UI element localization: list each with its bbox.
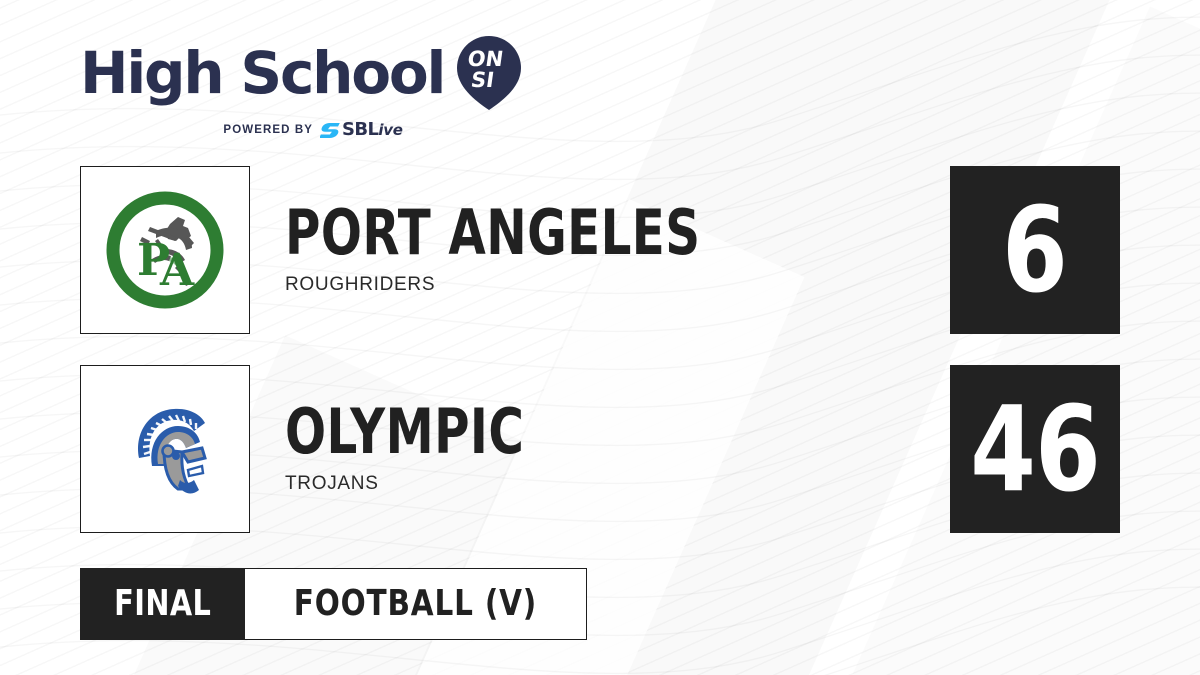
score-box-olympic: 46 (950, 365, 1120, 533)
port-angeles-roughriders-logo-icon: P A (106, 191, 224, 309)
brand-header: High School ON SI POWERED BY SBLive (80, 34, 510, 139)
team-logo-card-port-angeles: P A (80, 166, 250, 334)
team-mascot: TROJANS (285, 473, 592, 495)
team-logo-card-olympic (80, 365, 250, 533)
brand-logo-row: High School ON SI (80, 34, 510, 112)
team-row-home: P A PORT ANGELES ROUGHRIDERS 6 (80, 166, 1120, 334)
brand-wordmark: High School (80, 44, 444, 102)
team-info-olympic: OLYMPIC TROJANS (285, 365, 592, 533)
status-badge: FINAL (80, 568, 245, 640)
powered-by-row: POWERED BY SBLive (80, 121, 510, 139)
sblive-wordmark: SBLive (342, 121, 403, 139)
sport-label-panel: FOOTBALL (V) (245, 568, 587, 640)
pin-line2-text: SI (470, 67, 496, 92)
team-row-away: OLYMPIC TROJANS 46 (80, 365, 1120, 533)
team-name: OLYMPIC (285, 403, 524, 460)
on-si-pin-icon: ON SI (454, 34, 524, 112)
powered-by-label: POWERED BY (223, 124, 313, 136)
score-value: 46 (970, 390, 1100, 508)
status-badge-label: FINAL (114, 586, 211, 622)
team-name: PORT ANGELES (285, 204, 700, 261)
olympic-trojans-logo-icon (106, 390, 224, 508)
team-mascot: ROUGHRIDERS (285, 274, 818, 296)
score-box-port-angeles: 6 (950, 166, 1120, 334)
sblive-italic-text: ive (378, 121, 402, 139)
pa-monogram-text-2: A (159, 245, 195, 296)
sblive-main-text: SBL (342, 119, 378, 140)
sblive-s-icon (320, 122, 340, 139)
game-status-bar: FINAL FOOTBALL (V) (80, 568, 587, 640)
sport-label: FOOTBALL (V) (294, 586, 537, 622)
team-info-port-angeles: PORT ANGELES ROUGHRIDERS (285, 166, 818, 334)
sblive-logo: SBLive (320, 121, 403, 139)
score-value: 6 (1003, 191, 1068, 309)
scoreboard-graphic: High School ON SI POWERED BY SBLive (0, 0, 1200, 675)
background-wedge-b (766, 6, 1200, 675)
